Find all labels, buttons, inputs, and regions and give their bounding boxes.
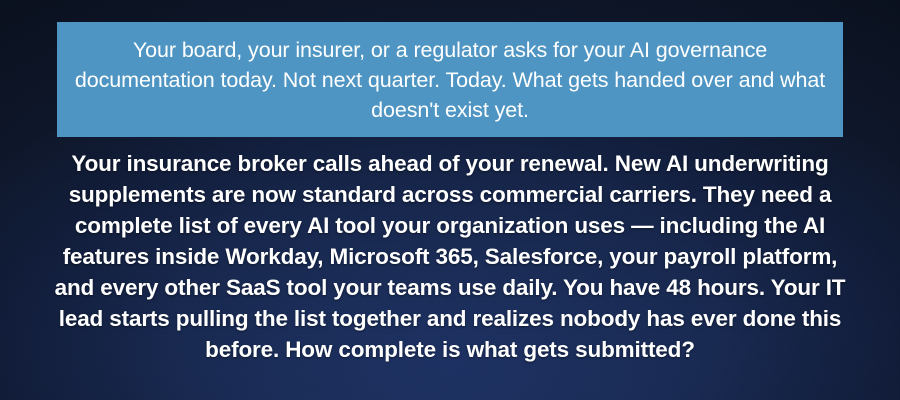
headline-text: Your board, your insurer, or a regulator… — [71, 35, 829, 125]
body-block: Your insurance broker calls ahead of you… — [38, 148, 862, 365]
slide-canvas: Your board, your insurer, or a regulator… — [0, 0, 900, 400]
headline-banner: Your board, your insurer, or a regulator… — [57, 22, 843, 137]
body-paragraph: Your insurance broker calls ahead of you… — [46, 148, 854, 365]
